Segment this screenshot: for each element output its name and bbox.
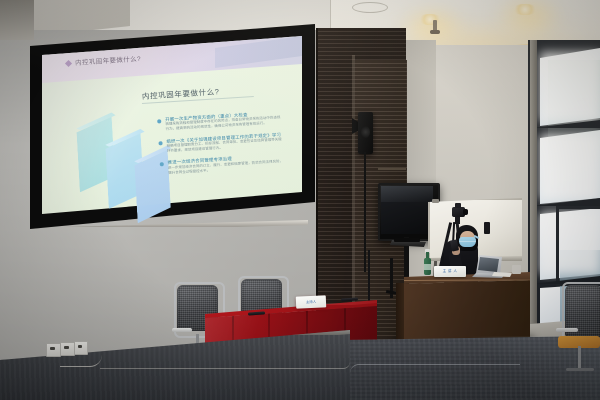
whiteboard-marker-icon[interactable] xyxy=(484,222,490,234)
window-glare xyxy=(540,134,600,200)
power-cable xyxy=(100,362,350,369)
power-cable xyxy=(350,364,520,373)
tv-shelf-device xyxy=(394,238,420,242)
laptop-screen xyxy=(478,257,499,272)
conference-room-photo: 内控巩固年要做什么? 内控巩固年要做什么? 开展一次生产物资方面的（重点）大检查… xyxy=(0,0,600,400)
projection-screen-sheen xyxy=(42,36,302,214)
sprinkler-head-icon xyxy=(430,30,440,34)
face-mask-fold xyxy=(459,241,476,242)
outlet-socket-icon xyxy=(50,347,55,350)
window-glare xyxy=(540,52,600,122)
downlight-icon xyxy=(512,4,538,15)
bottle-label xyxy=(424,264,431,270)
upper-left-wall-strip xyxy=(0,0,34,40)
chair-armrest xyxy=(172,328,192,332)
tv-screen-reflection xyxy=(381,186,433,202)
wall-outlet[interactable] xyxy=(74,341,88,355)
chair-base xyxy=(566,368,594,371)
wood-wall-seam xyxy=(378,168,406,170)
podium-front xyxy=(404,280,530,342)
power-cable xyxy=(60,354,102,367)
wall-outlet[interactable] xyxy=(46,343,61,357)
downlight-icon xyxy=(418,14,442,25)
window-frame xyxy=(556,206,600,286)
outlet-socket-icon xyxy=(64,346,69,349)
camera-lens-icon xyxy=(463,209,468,215)
window-mullion-vertical xyxy=(530,40,537,350)
speaker-cone-icon xyxy=(361,126,370,138)
outlet-socket-icon xyxy=(78,345,82,348)
podium-nameplate-text: 主 讲 人 xyxy=(437,268,463,275)
camera-top-mount xyxy=(455,203,461,208)
face-mask xyxy=(459,237,476,247)
chair-armrest xyxy=(556,328,578,332)
podium-device-box xyxy=(512,265,521,274)
whiteboard-clip xyxy=(432,199,439,203)
ceiling-vent xyxy=(352,2,388,13)
speaker-cable xyxy=(364,152,366,272)
table-nameplate-text: 主持人 xyxy=(299,297,323,306)
chair-post xyxy=(578,346,581,370)
tripod-head xyxy=(455,217,460,224)
